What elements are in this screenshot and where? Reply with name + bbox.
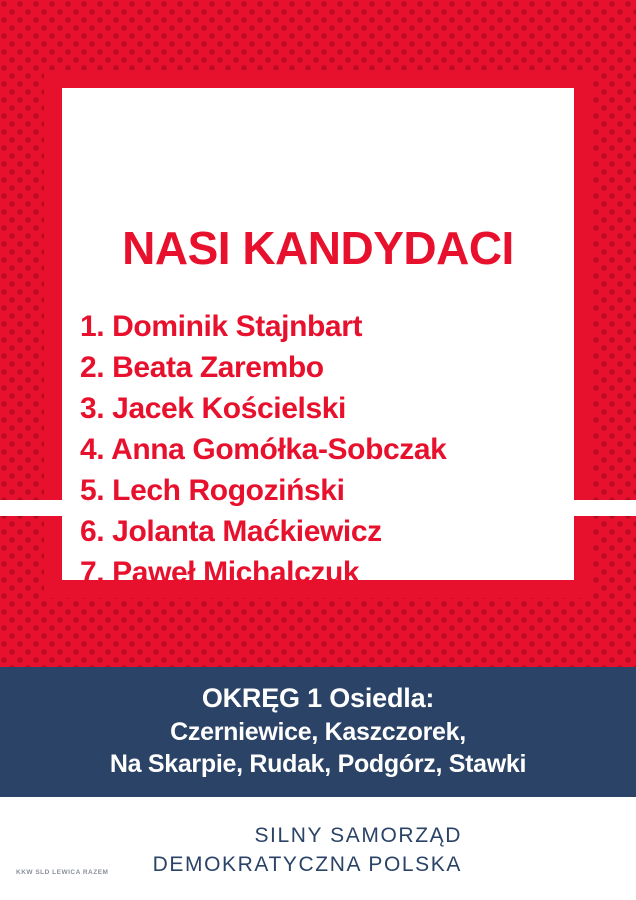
- list-item: 2. Beata Zarembo: [80, 347, 574, 388]
- campaign-poster: NASI KANDYDACI 1. Dominik Stajnbart 2. B…: [0, 0, 636, 900]
- candidate-number: 5.: [80, 474, 104, 507]
- district-band: OKRĘG 1 Osiedla: Czerniewice, Kaszczorek…: [0, 667, 636, 797]
- slogan-line-1: SILNY SAMORZĄD: [0, 821, 462, 850]
- candidate-name: Paweł Michalczuk: [112, 556, 359, 589]
- right-notch: [574, 500, 636, 516]
- list-item: 7. Paweł Michalczuk: [80, 552, 574, 593]
- candidate-list: 1. Dominik Stajnbart 2. Beata Zarembo 3.…: [80, 306, 574, 593]
- list-item: 5. Lech Rogoziński: [80, 470, 574, 511]
- district-neighborhoods-line2: Na Skarpie, Rudak, Podgórz, Stawki: [0, 748, 636, 780]
- list-item: 3. Jacek Kościelski: [80, 388, 574, 429]
- left-notch: [0, 500, 62, 516]
- committee-disclaimer: KKW SLD LEWICA RAZEM: [16, 869, 108, 876]
- page-title: NASI KANDYDACI: [62, 221, 574, 275]
- footer: SILNY SAMORZĄD DEMOKRATYCZNA POLSKA KKW …: [0, 797, 636, 900]
- candidate-number: 7.: [80, 556, 104, 589]
- district-neighborhoods-line1: Czerniewice, Kaszczorek,: [0, 716, 636, 748]
- list-item: 6. Jolanta Maćkiewicz: [80, 511, 574, 552]
- candidate-number: 2.: [80, 351, 104, 384]
- candidate-name: Anna Gomółka-Sobczak: [111, 433, 446, 466]
- candidate-name: Beata Zarembo: [112, 351, 324, 384]
- list-item: 1. Dominik Stajnbart: [80, 306, 574, 347]
- candidate-number: 4.: [80, 433, 104, 466]
- list-item: 4. Anna Gomółka-Sobczak: [80, 429, 574, 470]
- candidate-number: 3.: [80, 392, 104, 425]
- candidate-name: Dominik Stajnbart: [112, 310, 362, 343]
- candidate-number: 6.: [80, 515, 104, 548]
- candidate-name: Lech Rogoziński: [112, 474, 344, 507]
- candidate-name: Jolanta Maćkiewicz: [112, 515, 382, 548]
- candidate-number: 1.: [80, 310, 104, 343]
- candidates-card: NASI KANDYDACI 1. Dominik Stajnbart 2. B…: [62, 88, 574, 580]
- district-heading: OKRĘG 1 Osiedla:: [0, 680, 636, 716]
- candidate-name: Jacek Kościelski: [112, 392, 346, 425]
